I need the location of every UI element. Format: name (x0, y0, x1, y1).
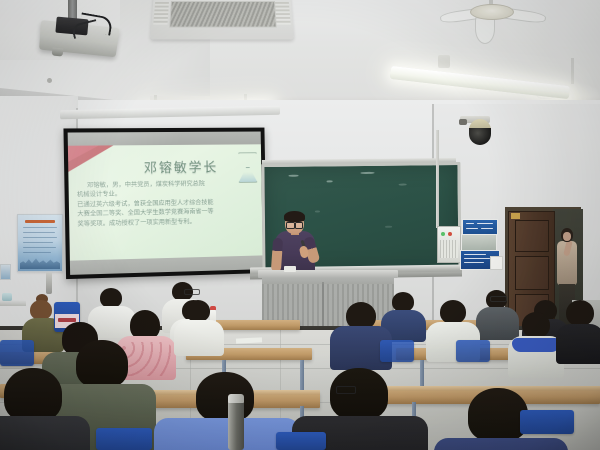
wall-poster (17, 214, 63, 272)
glasses-icon (336, 386, 356, 394)
breaker-row (440, 240, 458, 258)
poster-text-line (23, 242, 53, 243)
classroom-scene: 邓镕敏学长 邓镕敏，男，中共党员，煤炭科学研究总院 机械设计专业。 已通过英六级… (0, 0, 600, 450)
chair-blue (0, 340, 34, 366)
wall-meter-panel (461, 234, 497, 251)
chalk-mark (289, 175, 299, 177)
chair-sign-text (58, 318, 76, 322)
projection-screen-surface: 邓镕敏学长 邓镕敏，男，中共党员，煤炭科学研究总院 机械设计专业。 已通过英六级… (68, 132, 263, 275)
sign-text-line (464, 258, 490, 259)
hourglass-icon (238, 152, 256, 182)
sign-text-line (477, 223, 493, 224)
chalk-mark (327, 180, 333, 182)
door-panel (515, 220, 549, 252)
glasses-icon (184, 289, 200, 295)
chair-blue (456, 340, 490, 362)
wall-label-tab (490, 256, 503, 270)
student-head (440, 300, 466, 324)
light-rod (571, 58, 574, 84)
glasses-icon (286, 222, 303, 227)
student-torso (0, 416, 90, 450)
student-torso (434, 438, 568, 450)
poster-text-line (23, 252, 51, 253)
glasses-icon (490, 296, 507, 302)
door-handle-icon[interactable] (46, 272, 52, 294)
student-head (4, 368, 62, 422)
chalk-mark (361, 172, 375, 174)
student-head (30, 300, 52, 320)
poster-text-line (23, 237, 57, 238)
ac-slot-right (275, 2, 291, 25)
student-torso (174, 320, 224, 356)
student-head (522, 312, 550, 338)
student-head (330, 368, 388, 420)
doorway-person-face (563, 232, 571, 241)
door-panel (515, 256, 549, 290)
chalk-mark (399, 184, 407, 186)
projector-lens-icon (52, 47, 64, 56)
shelf-object (2, 293, 12, 301)
podium-top-surface (258, 270, 398, 278)
desk-leg (300, 360, 304, 394)
student-head (100, 288, 122, 308)
chair-blue (380, 340, 414, 362)
ceiling-fixture-point (47, 78, 52, 83)
poster-title-bar (25, 220, 55, 223)
status-led-green (441, 232, 445, 236)
hourglass-top (238, 152, 258, 168)
podium-object (284, 266, 296, 272)
student-head (76, 340, 128, 388)
glasses-lens (295, 222, 304, 229)
wall-sign-blue-upper (462, 219, 498, 235)
electrical-control-box[interactable] (437, 226, 461, 263)
wall-notice-small (0, 264, 11, 280)
poster-text-line (23, 247, 56, 248)
glasses-lens (286, 222, 295, 229)
ac-slot-left (153, 2, 169, 25)
student-head (468, 388, 528, 442)
sign-text-line (466, 228, 478, 229)
chair-blue-near (276, 432, 326, 450)
thermos-cap (228, 394, 244, 403)
chalk-mark (385, 226, 392, 228)
slide-body-text: 邓镕敏，男，中共党员，煤炭科学研究总院 机械设计专业。 已通过英六级考试，曾获全… (77, 180, 257, 230)
blue-scarf (512, 338, 560, 352)
door-number-plate (511, 213, 520, 219)
thermos-bottle (228, 400, 244, 450)
wall-speaker-icon (438, 55, 450, 68)
sign-text-line (464, 262, 484, 263)
chalk-mark (315, 210, 320, 212)
sign-text-line (466, 223, 474, 224)
wall-conduit (436, 130, 439, 228)
sign-text-line (464, 254, 486, 255)
air-conditioner-vent-icon (150, 0, 294, 39)
student-torso (556, 324, 600, 364)
poster-text-line (23, 232, 55, 233)
poster-skyline-graphic (20, 256, 60, 269)
ac-grille (169, 1, 277, 28)
student-head (566, 300, 594, 326)
chair-blue-near (96, 428, 152, 450)
projection-screen: 邓镕敏学长 邓镕敏，男，中共党员，煤炭科学研究总院 机械设计专业。 已通过英六级… (63, 128, 267, 280)
presentation-slide: 邓镕敏学长 邓镕敏，男，中共党员，煤炭科学研究总院 机械设计专业。 已通过英六级… (68, 144, 263, 263)
ceiling-fan-icon (470, 4, 514, 20)
student-head (186, 300, 210, 322)
chair-blue-near (520, 410, 574, 434)
status-led-red (448, 232, 452, 236)
slide-title: 邓镕敏学长 (121, 156, 240, 176)
presenter-hair (284, 211, 305, 222)
bottle-cap (210, 306, 216, 310)
student-head (392, 292, 414, 312)
camera-bracket (459, 119, 467, 125)
student-head (196, 372, 254, 422)
slide-corner-accent (68, 144, 103, 164)
sign-text-line (481, 228, 493, 229)
poster-text-line (23, 227, 57, 228)
student-torso (476, 307, 519, 340)
